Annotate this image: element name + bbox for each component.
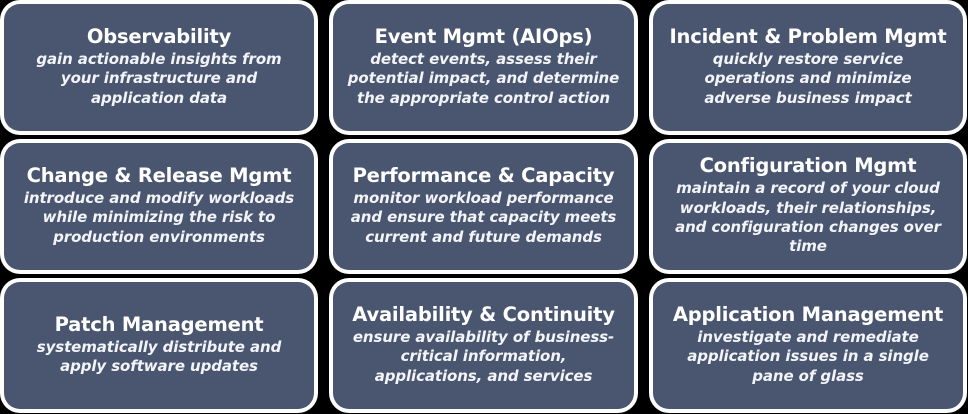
capability-card-configuration-mgmt[interactable]: Configuration Mgmt maintain a record of … [653,143,963,270]
capability-card-observability[interactable]: Observability gain actionable insights f… [4,4,314,131]
capability-card-incident-problem-mgmt[interactable]: Incident & Problem Mgmt quickly restore … [653,4,963,131]
capability-card-description: maintain a record of your cloud workload… [669,179,947,257]
capability-card-title: Performance & Capacity [353,164,615,187]
capability-card-availability-continuity[interactable]: Availability & Continuity ensure availab… [333,282,634,409]
capability-card-description: detect events, assess their potential im… [345,50,622,108]
capability-card-title: Observability [87,25,231,48]
capability-card-description: ensure availability of business-critical… [345,328,622,386]
capability-card-description: gain actionable insights from your infra… [23,50,295,108]
capability-card-title: Patch Management [55,313,264,336]
capability-card-performance-capacity[interactable]: Performance & Capacity monitor workload … [333,143,634,270]
capability-card-title: Application Management [673,303,943,326]
capability-card-event-mgmt-aiops[interactable]: Event Mgmt (AIOps) detect events, assess… [333,4,634,131]
capability-grid: Observability gain actionable insights f… [0,0,968,414]
capability-card-title: Configuration Mgmt [700,154,917,177]
capability-card-description: monitor workload performance and ensure … [345,189,622,247]
capability-card-application-management[interactable]: Application Management investigate and r… [653,282,963,409]
capability-card-title: Change & Release Mgmt [27,164,292,187]
capability-card-title: Availability & Continuity [352,303,615,326]
capability-card-description: systematically distribute and apply soft… [23,338,295,377]
capability-card-description: quickly restore service operations and m… [669,50,947,108]
capability-card-title: Incident & Problem Mgmt [669,25,946,48]
capability-card-description: introduce and modify workloads while min… [23,189,295,247]
capability-card-description: investigate and remediate application is… [669,328,947,386]
capability-card-patch-management[interactable]: Patch Management systematically distribu… [4,282,314,409]
capability-card-change-release-mgmt[interactable]: Change & Release Mgmt introduce and modi… [4,143,314,270]
capability-card-title: Event Mgmt (AIOps) [375,25,593,48]
